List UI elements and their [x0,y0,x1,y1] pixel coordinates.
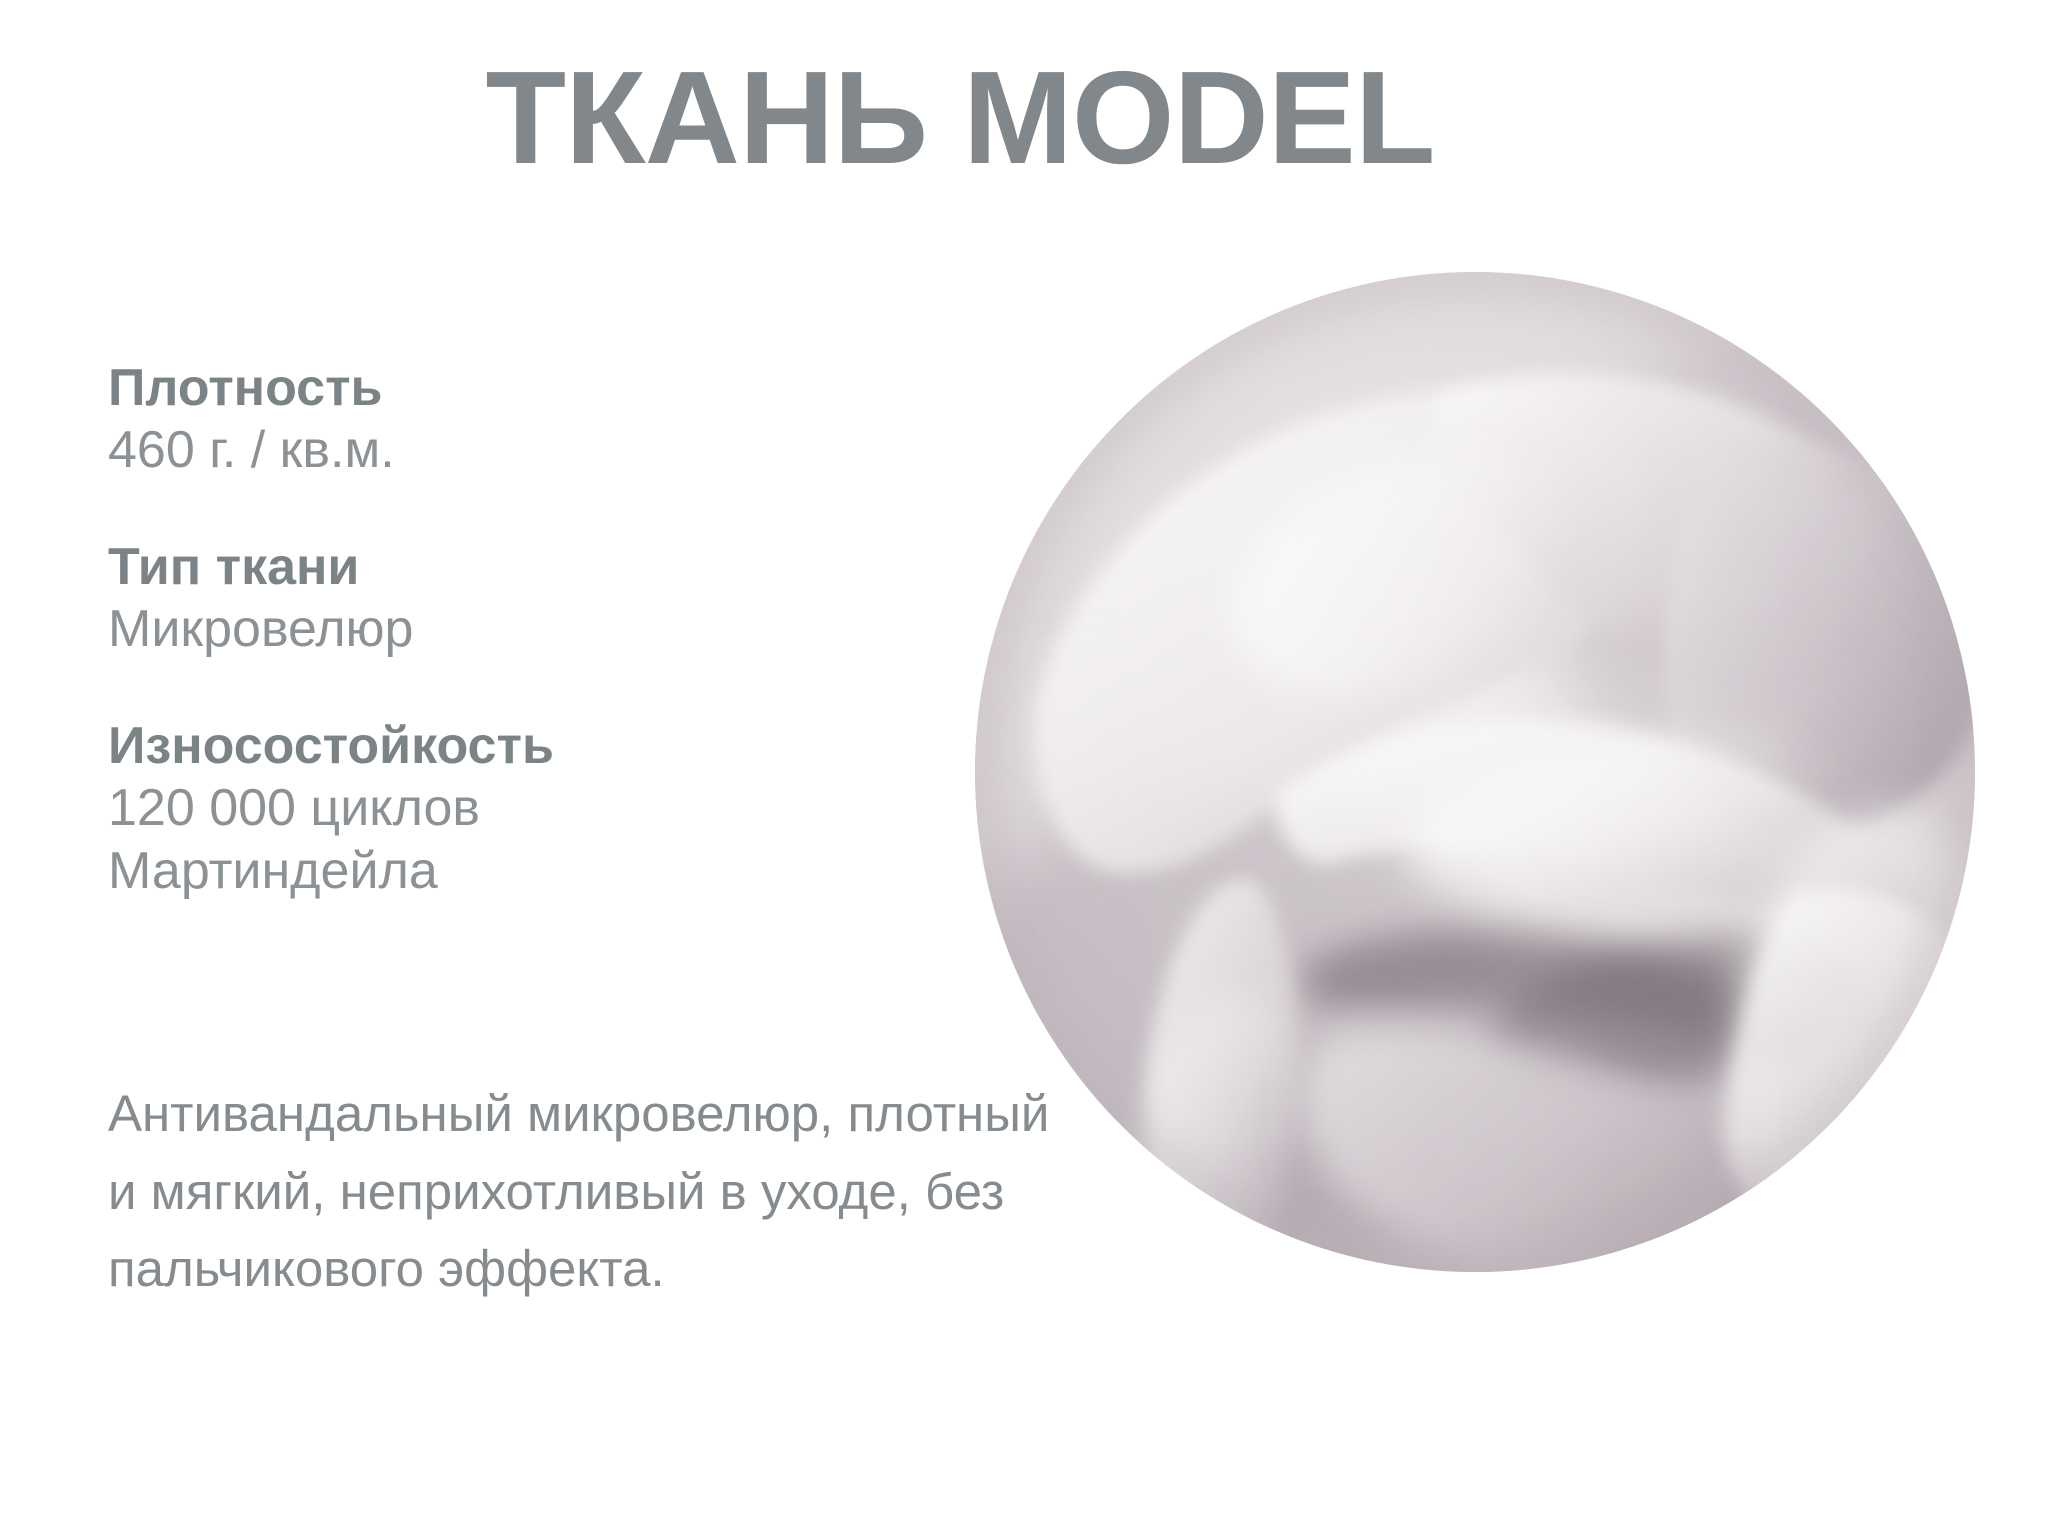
description-text: Антивандальный микровелюр, плотный и мяг… [108,1075,1058,1308]
spec-item-durability: Износостойкость 120 000 циклов Мартиндей… [108,716,888,904]
fabric-photo-illustration [975,272,1975,1272]
slide-root: ТКАНЬ MODEL Плотность 460 г. / кв.м. Тип… [0,0,2048,1536]
spec-value-fabric-type: Микровелюр [108,598,888,661]
spec-label-density: Плотность [108,358,888,419]
spec-item-density: Плотность 460 г. / кв.м. [108,358,888,483]
fabric-swatch-photo [975,272,1975,1272]
page-title: ТКАНЬ MODEL [0,52,1920,184]
spec-value-durability-cycles: 120 000 циклов [108,777,888,840]
spec-value-density: 460 г. / кв.м. [108,419,888,482]
spec-item-fabric-type: Тип ткани Микровелюр [108,537,888,662]
fabric-photo-container [975,272,1975,1272]
spec-value-durability-standard: Мартиндейла [108,840,888,903]
spec-label-fabric-type: Тип ткани [108,537,888,598]
spec-label-durability: Износостойкость [108,716,888,777]
spec-list: Плотность 460 г. / кв.м. Тип ткани Микро… [108,358,888,904]
